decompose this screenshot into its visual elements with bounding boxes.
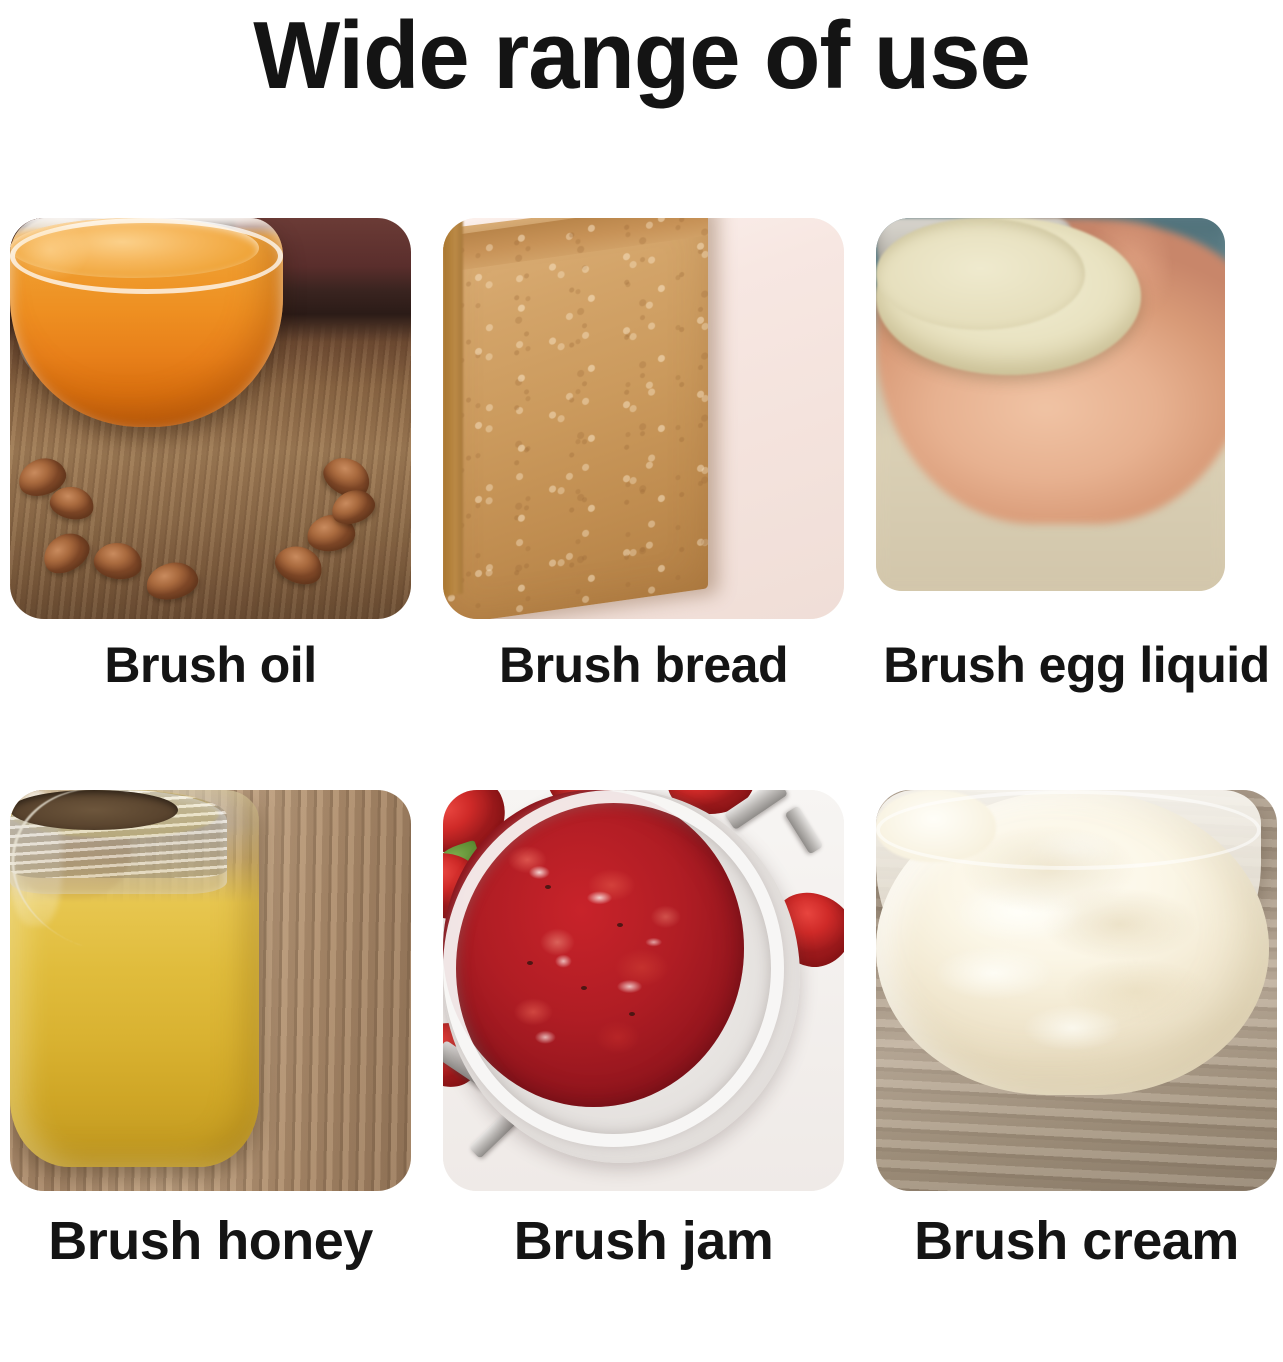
brush-honey-photo (10, 790, 411, 1191)
use-case-card-brush-oil[interactable]: Brush oil (10, 218, 411, 619)
brush-cream-photo (876, 790, 1277, 1191)
use-case-card-brush-egg-liquid[interactable]: Brush egg liquid (876, 218, 1277, 619)
brush-egg-liquid-photo (876, 218, 1277, 619)
use-case-card-brush-honey[interactable]: Brush honey (10, 790, 411, 1191)
brush-bread-photo (443, 218, 844, 619)
brush-oil-photo (10, 218, 411, 619)
caption-brush-honey: Brush honey (10, 1210, 411, 1272)
argan-nut (36, 525, 96, 580)
bread-slice-edge (443, 218, 463, 596)
caption-brush-oil: Brush oil (10, 636, 411, 694)
grid-row-top: Brush oil Brush bread (0, 218, 1283, 790)
grid-row-bottom: Brush honey (0, 790, 1283, 1362)
use-case-card-brush-cream[interactable]: Brush cream (876, 790, 1277, 1191)
tart-shell-cavity (876, 218, 1085, 330)
use-case-grid: Brush oil Brush bread (0, 218, 1283, 1362)
egg-photo-inner (876, 218, 1225, 591)
use-case-card-brush-bread[interactable]: Brush bread (443, 218, 844, 619)
brush-jam-photo (443, 790, 844, 1191)
caption-brush-jam: Brush jam (443, 1210, 844, 1272)
caption-brush-egg-liquid: Brush egg liquid (836, 636, 1283, 694)
bowl-rim (876, 790, 1261, 870)
bread-crumb-texture (443, 218, 708, 619)
use-case-card-brush-jam[interactable]: Brush jam (443, 790, 844, 1191)
argan-nut (92, 540, 145, 582)
product-infographic: Wide range of use (0, 0, 1283, 1284)
page-title: Wide range of use (26, 4, 1258, 108)
caption-brush-bread: Brush bread (443, 636, 844, 694)
jar-glass-rim (443, 790, 784, 1147)
caption-brush-cream: Brush cream (876, 1210, 1277, 1272)
argan-nut (143, 558, 201, 604)
bowl-highlight (10, 218, 90, 282)
